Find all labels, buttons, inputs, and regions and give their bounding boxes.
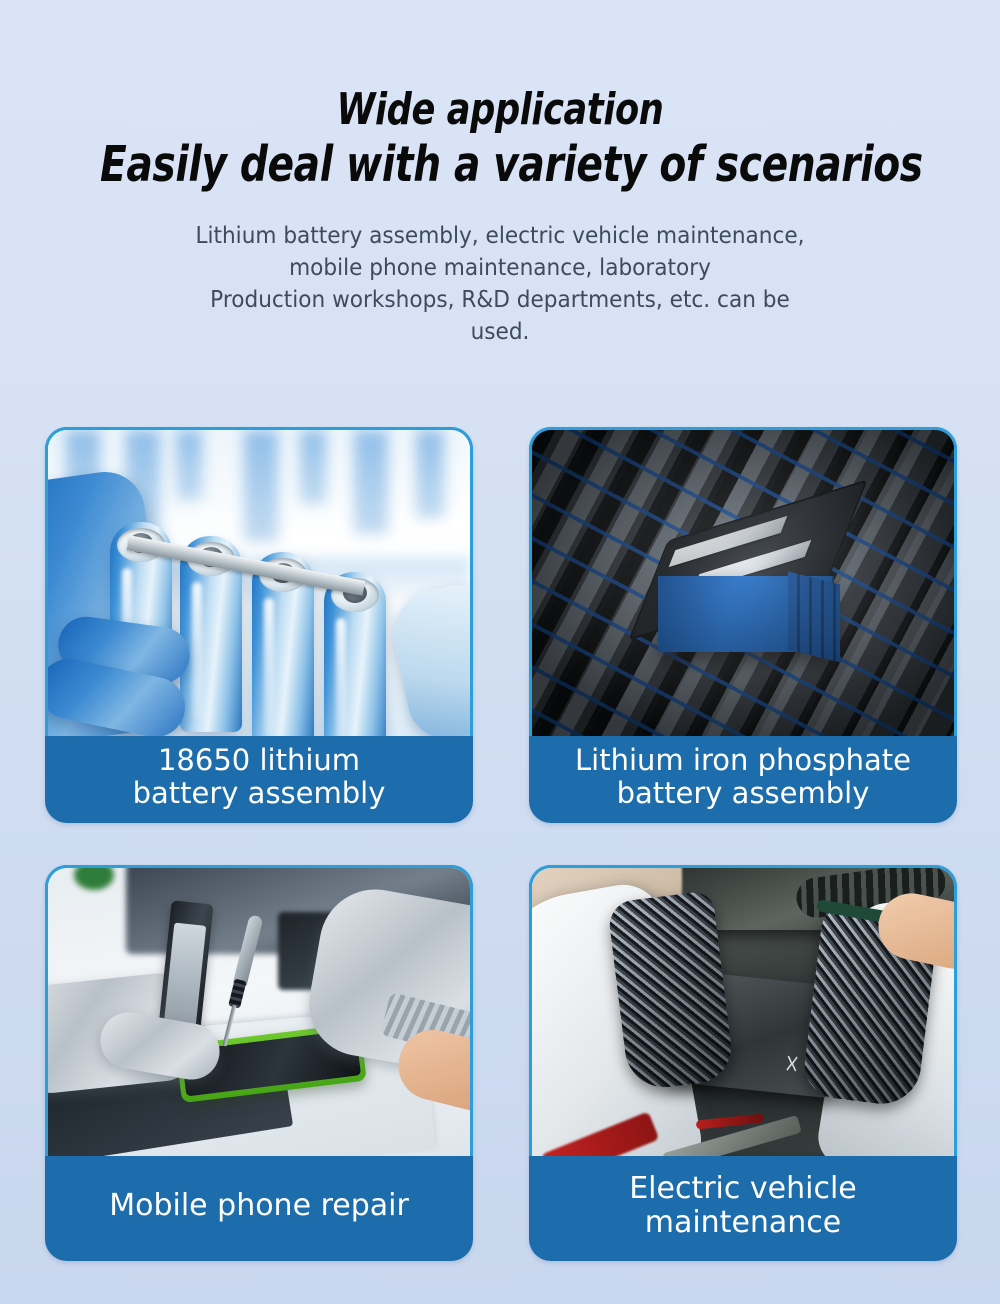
scene-vignette xyxy=(532,430,954,736)
caption-line-2: battery assembly xyxy=(133,777,386,810)
scenario-card-mobile-phone-repair[interactable]: Mobile phone repair xyxy=(45,865,473,1261)
scenario-card-grid: 18650 lithium battery assembly xyxy=(45,427,957,1261)
description-line-3: Production workshops, R&D departments, e… xyxy=(30,284,970,316)
scenario-caption-18650-assembly: 18650 lithium battery assembly xyxy=(45,736,473,823)
scenario-caption-electric-vehicle-maintenance: Electric vehicle maintenance xyxy=(529,1156,957,1261)
scenario-photo-lifepo4-assembly xyxy=(529,427,957,736)
scenario-card-lifepo4-assembly[interactable]: Lithium iron phosphate battery assembly xyxy=(529,427,957,823)
photo-ev-maintenance-scene: ☓ xyxy=(532,868,954,1156)
application-scenarios-page: Wide application Easily deal with a vari… xyxy=(0,0,1000,1304)
scenario-photo-18650-assembly xyxy=(45,427,473,736)
blurred-background-bar xyxy=(416,430,444,518)
description-line-2: mobile phone maintenance, laboratory xyxy=(30,252,970,284)
page-title-secondary: Easily deal with a variety of scenarios xyxy=(100,134,900,196)
caption-line-1: 18650 lithium xyxy=(133,744,386,777)
scenario-card-18650-assembly[interactable]: 18650 lithium battery assembly xyxy=(45,427,473,823)
scenario-card-electric-vehicle-maintenance[interactable]: ☓ Electric vehicle maintenance xyxy=(529,865,957,1261)
description-line-1: Lithium battery assembly, electric vehic… xyxy=(30,220,970,252)
page-title-primary: Wide application xyxy=(100,86,900,134)
caption-line-1: Mobile phone repair xyxy=(109,1189,409,1223)
photo-lifepo4-scene xyxy=(532,430,954,736)
scenario-caption-lifepo4-assembly: Lithium iron phosphate battery assembly xyxy=(529,736,957,823)
caption-line-2: battery assembly xyxy=(575,777,911,810)
caption-line-2: maintenance xyxy=(629,1206,857,1240)
blurred-background-bar xyxy=(300,430,326,504)
page-header: Wide application Easily deal with a vari… xyxy=(0,0,1000,348)
photo-phone-repair-scene xyxy=(48,868,470,1156)
blurred-background-bar xyxy=(354,430,388,534)
cell-highlight xyxy=(192,582,202,720)
display-shield-plate xyxy=(163,923,206,1034)
blurred-background-bar xyxy=(244,430,278,542)
photo-18650-scene xyxy=(48,430,470,736)
scenario-photo-mobile-phone-repair xyxy=(45,865,473,1156)
cell-highlight xyxy=(336,618,346,736)
caption-line-1: Electric vehicle xyxy=(629,1172,857,1206)
cell-highlight xyxy=(264,598,274,736)
scenario-caption-mobile-phone-repair: Mobile phone repair xyxy=(45,1156,473,1261)
scenario-photo-electric-vehicle-maintenance: ☓ xyxy=(529,865,957,1156)
caption-line-1: Lithium iron phosphate xyxy=(575,744,911,777)
blurred-background-bar xyxy=(176,430,202,500)
lithium-cell-18650 xyxy=(324,572,386,736)
description-line-4: used. xyxy=(30,316,970,348)
page-description: Lithium battery assembly, electric vehic… xyxy=(0,220,1000,348)
